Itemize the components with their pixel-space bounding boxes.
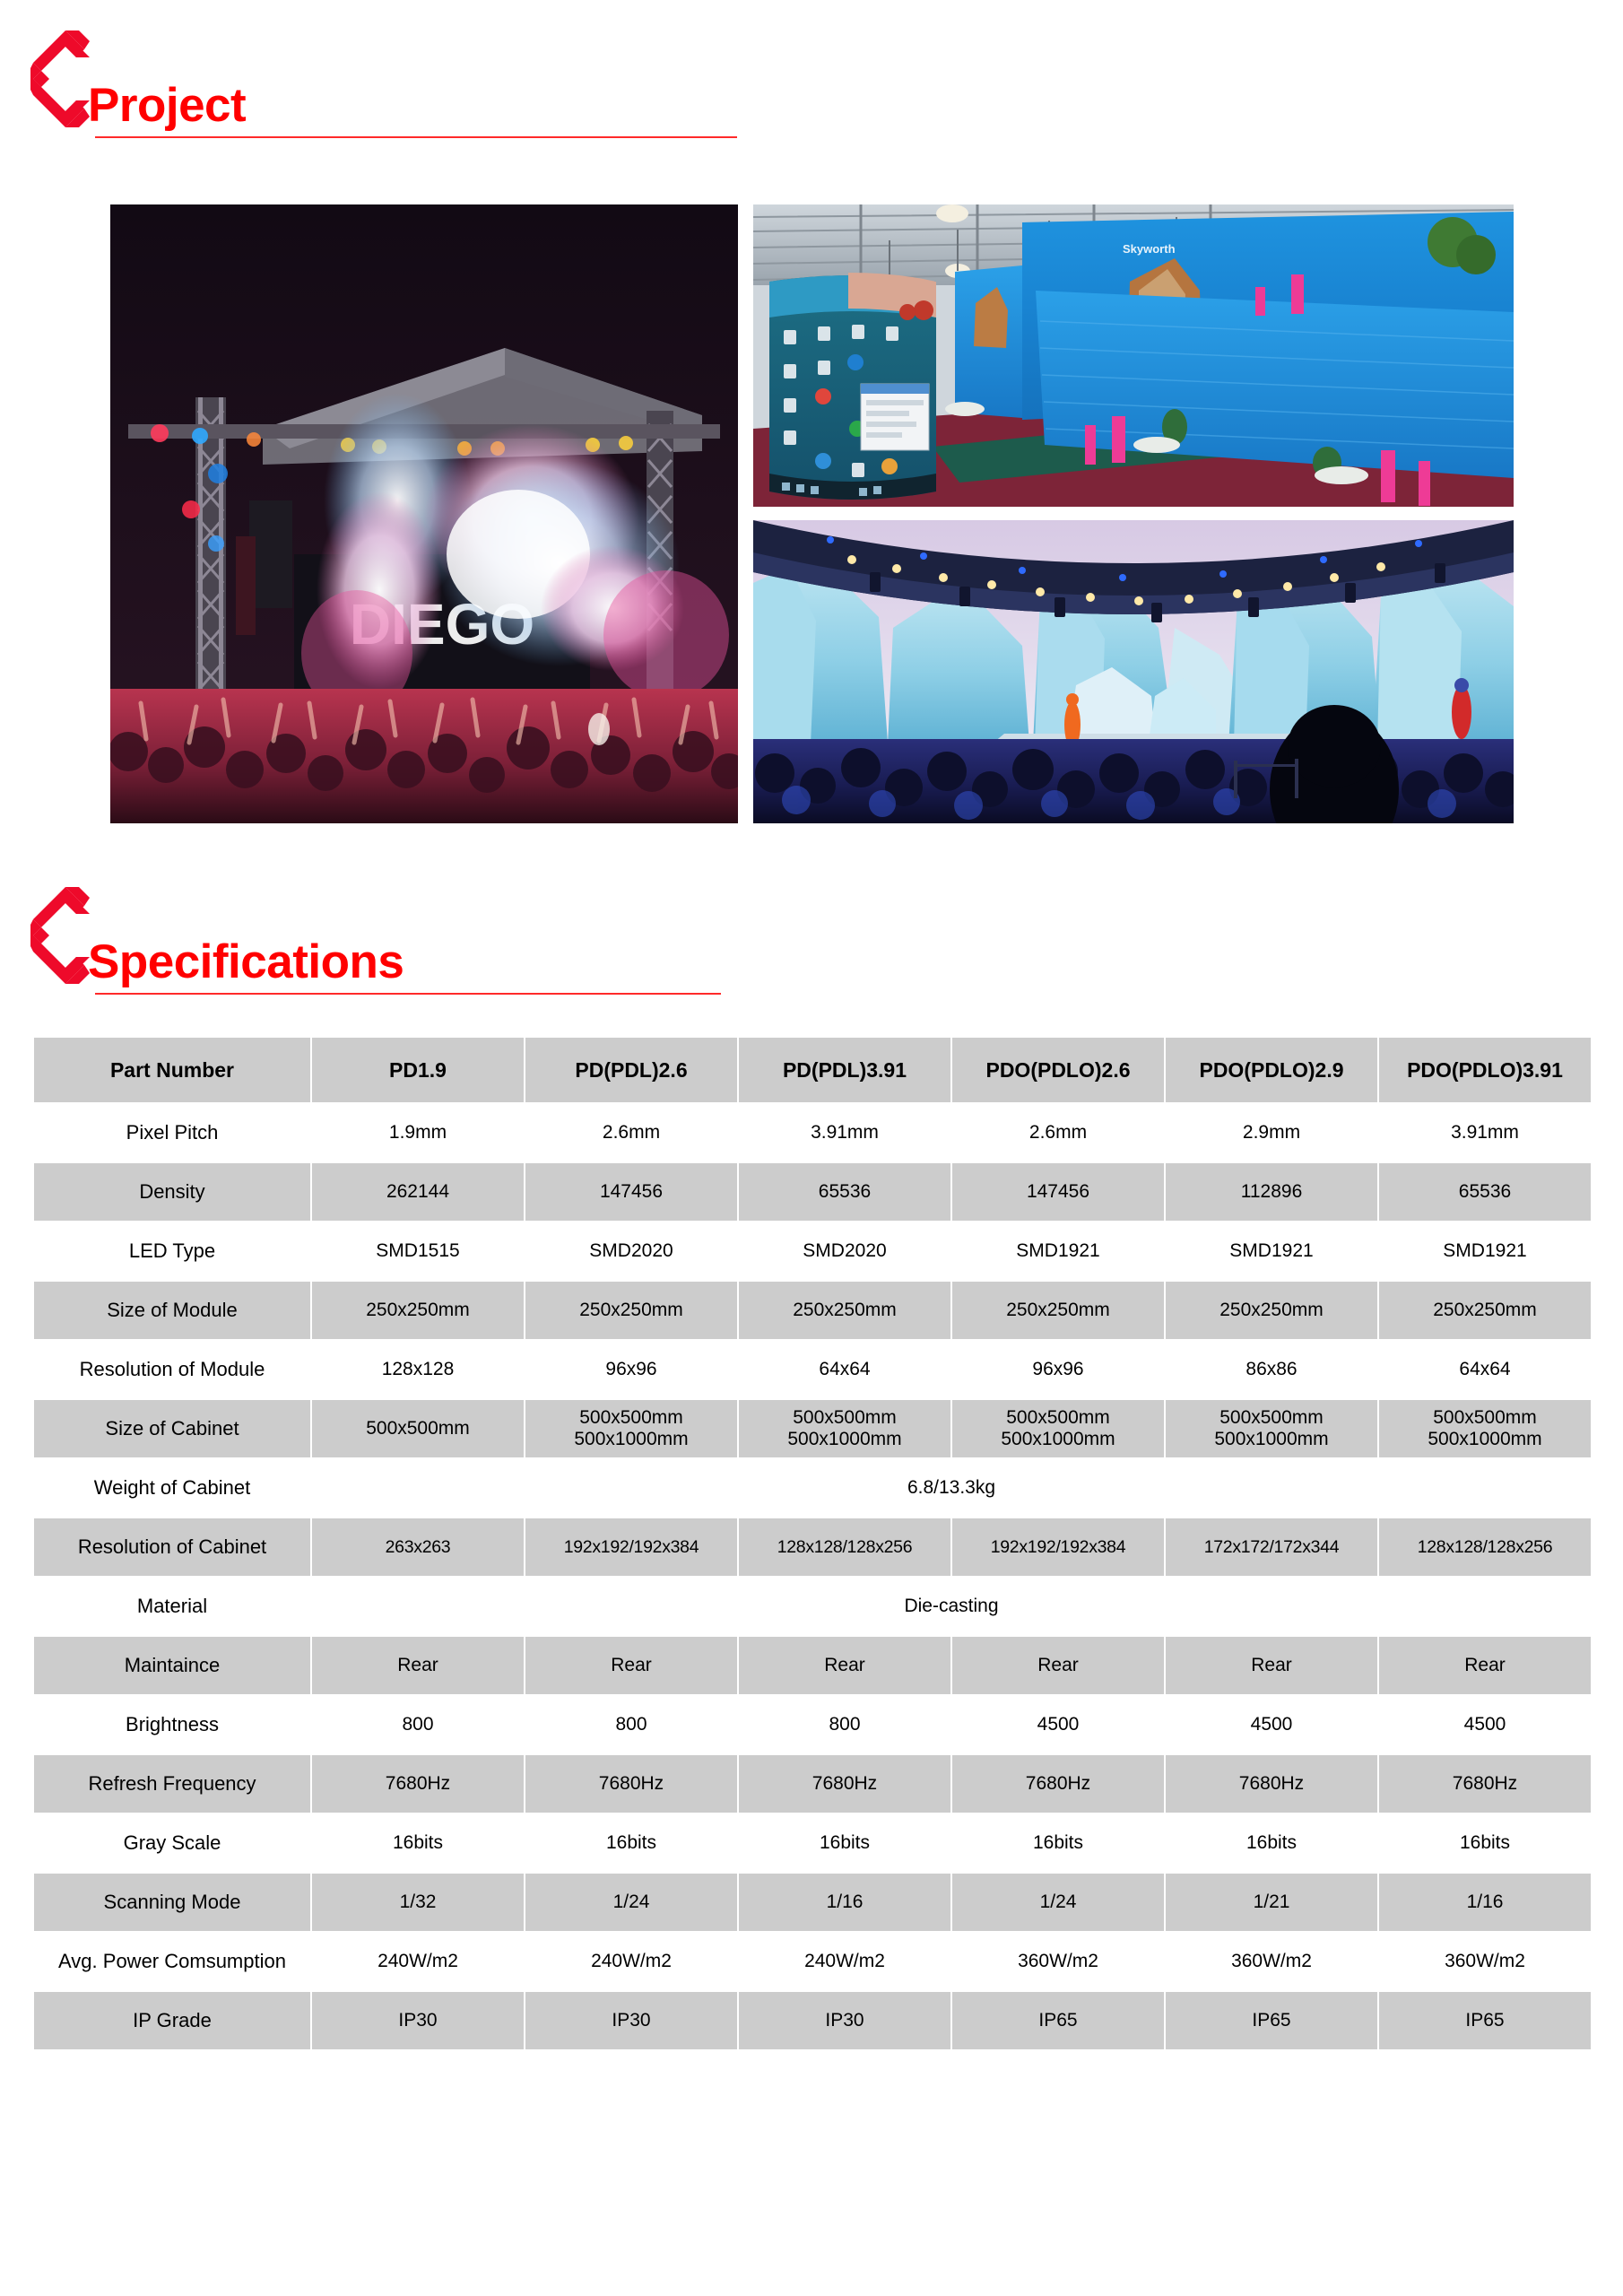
table-cell: IP30 bbox=[525, 1991, 738, 2050]
table-cell: 500x500mm500x1000mm bbox=[1378, 1399, 1592, 1458]
table-cell: 7680Hz bbox=[738, 1754, 951, 1813]
table-row: Density262144147456655361474561128966553… bbox=[33, 1162, 1592, 1222]
table-cell: 64x64 bbox=[1378, 1340, 1592, 1399]
table-cell: 172x172/172x344 bbox=[1165, 1518, 1378, 1577]
table-cell: 4500 bbox=[951, 1695, 1165, 1754]
row-label: Material bbox=[33, 1577, 311, 1636]
table-cell: 4500 bbox=[1378, 1695, 1592, 1754]
table-cell: 7680Hz bbox=[1378, 1754, 1592, 1813]
table-cell: SMD2020 bbox=[738, 1222, 951, 1281]
table-cell: 16bits bbox=[525, 1813, 738, 1873]
table-row: Refresh Frequency7680Hz7680Hz7680Hz7680H… bbox=[33, 1754, 1592, 1813]
row-label: Maintaince bbox=[33, 1636, 311, 1695]
table-cell: IP65 bbox=[1378, 1991, 1592, 2050]
table-cell: IP30 bbox=[738, 1991, 951, 2050]
table-header: Part NumberPD1.9PD(PDL)2.6PD(PDL)3.91PDO… bbox=[33, 1037, 1592, 1103]
table-cell: 250x250mm bbox=[1165, 1281, 1378, 1340]
table-cell: 128x128 bbox=[311, 1340, 525, 1399]
table-cell: 500x500mm500x1000mm bbox=[525, 1399, 738, 1458]
table-cell: 1/16 bbox=[1378, 1873, 1592, 1932]
table-cell: 128x128/128x256 bbox=[738, 1518, 951, 1577]
table-cell: 192x192/192x384 bbox=[951, 1518, 1165, 1577]
table-cell: 147456 bbox=[525, 1162, 738, 1222]
table-row: Brightness800800800450045004500 bbox=[33, 1695, 1592, 1754]
table-row: MaterialDie-casting bbox=[33, 1577, 1592, 1636]
row-label: Weight of Cabinet bbox=[33, 1458, 311, 1518]
column-header-pdo-pdlo-2.6: PDO(PDLO)2.6 bbox=[951, 1037, 1165, 1103]
table-cell: 250x250mm bbox=[738, 1281, 951, 1340]
column-header-pd-pdl-3.91: PD(PDL)3.91 bbox=[738, 1037, 951, 1103]
specifications-title: Specifications bbox=[88, 938, 664, 986]
table-cell: 800 bbox=[738, 1695, 951, 1754]
table-row: Size of Module250x250mm250x250mm250x250m… bbox=[33, 1281, 1592, 1340]
project-title: Project bbox=[88, 82, 681, 129]
table-cell: 7680Hz bbox=[525, 1754, 738, 1813]
table-cell: SMD1921 bbox=[951, 1222, 1165, 1281]
specifications-section-header: Specifications bbox=[0, 883, 664, 991]
row-label: Brightness bbox=[33, 1695, 311, 1754]
table-row: IP GradeIP30IP30IP30IP65IP65IP65 bbox=[33, 1991, 1592, 2050]
table-cell: 360W/m2 bbox=[1165, 1932, 1378, 1991]
table-cell: 16bits bbox=[1165, 1813, 1378, 1873]
table-cell: 800 bbox=[311, 1695, 525, 1754]
table-cell: 3.91mm bbox=[738, 1103, 951, 1162]
row-label: Avg. Power Comsumption bbox=[33, 1932, 311, 1991]
table-cell: Rear bbox=[525, 1636, 738, 1695]
table-cell: 500x500mm500x1000mm bbox=[1165, 1399, 1378, 1458]
table-cell: SMD1921 bbox=[1165, 1222, 1378, 1281]
row-label: LED Type bbox=[33, 1222, 311, 1281]
table-row: Pixel Pitch1.9mm2.6mm3.91mm2.6mm2.9mm3.9… bbox=[33, 1103, 1592, 1162]
table-cell: 263x263 bbox=[311, 1518, 525, 1577]
table-cell: 7680Hz bbox=[951, 1754, 1165, 1813]
specifications-table: Part NumberPD1.9PD(PDL)2.6PD(PDL)3.91PDO… bbox=[32, 1036, 1593, 2051]
table-cell: 86x86 bbox=[1165, 1340, 1378, 1399]
table-row: Gray Scale16bits16bits16bits16bits16bits… bbox=[33, 1813, 1592, 1873]
table-cell: 3.91mm bbox=[1378, 1103, 1592, 1162]
table-cell: 128x128/128x256 bbox=[1378, 1518, 1592, 1577]
table-cell: 192x192/192x384 bbox=[525, 1518, 738, 1577]
table-cell: 112896 bbox=[1165, 1162, 1378, 1222]
table-cell: 250x250mm bbox=[525, 1281, 738, 1340]
table-row: MaintainceRearRearRearRearRearRear bbox=[33, 1636, 1592, 1695]
column-header-pd1.9: PD1.9 bbox=[311, 1037, 525, 1103]
project-photo-gallery: DIEGO bbox=[110, 204, 1514, 823]
row-label: Scanning Mode bbox=[33, 1873, 311, 1932]
table-cell: SMD1921 bbox=[1378, 1222, 1592, 1281]
photo-runway-show-curved-led-wall bbox=[753, 520, 1514, 823]
table-cell: 1/21 bbox=[1165, 1873, 1378, 1932]
table-cell: 262144 bbox=[311, 1162, 525, 1222]
table-row: Resolution of Cabinet263x263192x192/192x… bbox=[33, 1518, 1592, 1577]
table-cell: SMD2020 bbox=[525, 1222, 738, 1281]
table-cell: 96x96 bbox=[525, 1340, 738, 1399]
table-cell: 4500 bbox=[1165, 1695, 1378, 1754]
table-cell: 16bits bbox=[1378, 1813, 1592, 1873]
table-header-row: Part NumberPD1.9PD(PDL)2.6PD(PDL)3.91PDO… bbox=[33, 1037, 1592, 1103]
table-cell: IP65 bbox=[951, 1991, 1165, 2050]
table-cell: IP30 bbox=[311, 1991, 525, 2050]
row-label: IP Grade bbox=[33, 1991, 311, 2050]
row-label: Pixel Pitch bbox=[33, 1103, 311, 1162]
table-row: Avg. Power Comsumption240W/m2240W/m2240W… bbox=[33, 1932, 1592, 1991]
project-title-underline bbox=[95, 136, 737, 138]
svg-text:Skyworth: Skyworth bbox=[1123, 242, 1176, 256]
row-label: Size of Module bbox=[33, 1281, 311, 1340]
table-cell: 1/16 bbox=[738, 1873, 951, 1932]
table-cell: 240W/m2 bbox=[525, 1932, 738, 1991]
table-cell: 360W/m2 bbox=[1378, 1932, 1592, 1991]
table-cell: 1.9mm bbox=[311, 1103, 525, 1162]
row-label: Gray Scale bbox=[33, 1813, 311, 1873]
row-merged-value: 6.8/13.3kg bbox=[311, 1458, 1592, 1518]
table-row: Scanning Mode1/321/241/161/241/211/16 bbox=[33, 1873, 1592, 1932]
table-cell: 16bits bbox=[951, 1813, 1165, 1873]
table-cell: 65536 bbox=[738, 1162, 951, 1222]
row-merged-value: Die-casting bbox=[311, 1577, 1592, 1636]
project-section-header: Project bbox=[0, 27, 681, 135]
table-cell: IP65 bbox=[1165, 1991, 1378, 2050]
table-cell: 1/24 bbox=[951, 1873, 1165, 1932]
table-row: LED TypeSMD1515SMD2020SMD2020SMD1921SMD1… bbox=[33, 1222, 1592, 1281]
table-cell: 7680Hz bbox=[1165, 1754, 1378, 1813]
column-header-pdo-pdlo-3.91: PDO(PDLO)3.91 bbox=[1378, 1037, 1592, 1103]
table-cell: 96x96 bbox=[951, 1340, 1165, 1399]
row-label: Resolution of Cabinet bbox=[33, 1518, 311, 1577]
table-cell: Rear bbox=[311, 1636, 525, 1695]
table-cell: SMD1515 bbox=[311, 1222, 525, 1281]
row-label: Resolution of Module bbox=[33, 1340, 311, 1399]
table-row: Resolution of Module128x12896x9664x6496x… bbox=[33, 1340, 1592, 1399]
row-label: Refresh Frequency bbox=[33, 1754, 311, 1813]
column-header-part-number: Part Number bbox=[33, 1037, 311, 1103]
column-header-pd-pdl-2.6: PD(PDL)2.6 bbox=[525, 1037, 738, 1103]
table-cell: 250x250mm bbox=[951, 1281, 1165, 1340]
table-cell: 250x250mm bbox=[311, 1281, 525, 1340]
photo-indoor-exhibition-led-walls: Skyworth bbox=[753, 204, 1514, 507]
table-cell: Rear bbox=[1165, 1636, 1378, 1695]
table-cell: 240W/m2 bbox=[311, 1932, 525, 1991]
table-cell: Rear bbox=[1378, 1636, 1592, 1695]
table-cell: 7680Hz bbox=[311, 1754, 525, 1813]
table-cell: 16bits bbox=[738, 1813, 951, 1873]
specifications-title-underline bbox=[95, 993, 721, 995]
table-cell: 147456 bbox=[951, 1162, 1165, 1222]
table-cell: Rear bbox=[738, 1636, 951, 1695]
table-cell: 1/24 bbox=[525, 1873, 738, 1932]
table-cell: 2.6mm bbox=[525, 1103, 738, 1162]
row-label: Size of Cabinet bbox=[33, 1399, 311, 1458]
table-cell: 64x64 bbox=[738, 1340, 951, 1399]
table-cell: Rear bbox=[951, 1636, 1165, 1695]
table-cell: 1/32 bbox=[311, 1873, 525, 1932]
table-row: Size of Cabinet500x500mm500x500mm500x100… bbox=[33, 1399, 1592, 1458]
table-row: Weight of Cabinet6.8/13.3kg bbox=[33, 1458, 1592, 1518]
table-cell: 2.6mm bbox=[951, 1103, 1165, 1162]
table-cell: 500x500mm bbox=[311, 1399, 525, 1458]
table-cell: 360W/m2 bbox=[951, 1932, 1165, 1991]
row-label: Density bbox=[33, 1162, 311, 1222]
table-cell: 65536 bbox=[1378, 1162, 1592, 1222]
table-body: Pixel Pitch1.9mm2.6mm3.91mm2.6mm2.9mm3.9… bbox=[33, 1103, 1592, 2050]
table-cell: 250x250mm bbox=[1378, 1281, 1592, 1340]
table-cell: 240W/m2 bbox=[738, 1932, 951, 1991]
table-cell: 500x500mm500x1000mm bbox=[951, 1399, 1165, 1458]
photo-outdoor-concert-stage: DIEGO bbox=[110, 204, 738, 823]
specifications-table-container: Part NumberPD1.9PD(PDL)2.6PD(PDL)3.91PDO… bbox=[32, 1036, 1593, 2051]
table-cell: 2.9mm bbox=[1165, 1103, 1378, 1162]
table-cell: 500x500mm500x1000mm bbox=[738, 1399, 951, 1458]
column-header-pdo-pdlo-2.9: PDO(PDLO)2.9 bbox=[1165, 1037, 1378, 1103]
table-cell: 16bits bbox=[311, 1813, 525, 1873]
table-cell: 800 bbox=[525, 1695, 738, 1754]
